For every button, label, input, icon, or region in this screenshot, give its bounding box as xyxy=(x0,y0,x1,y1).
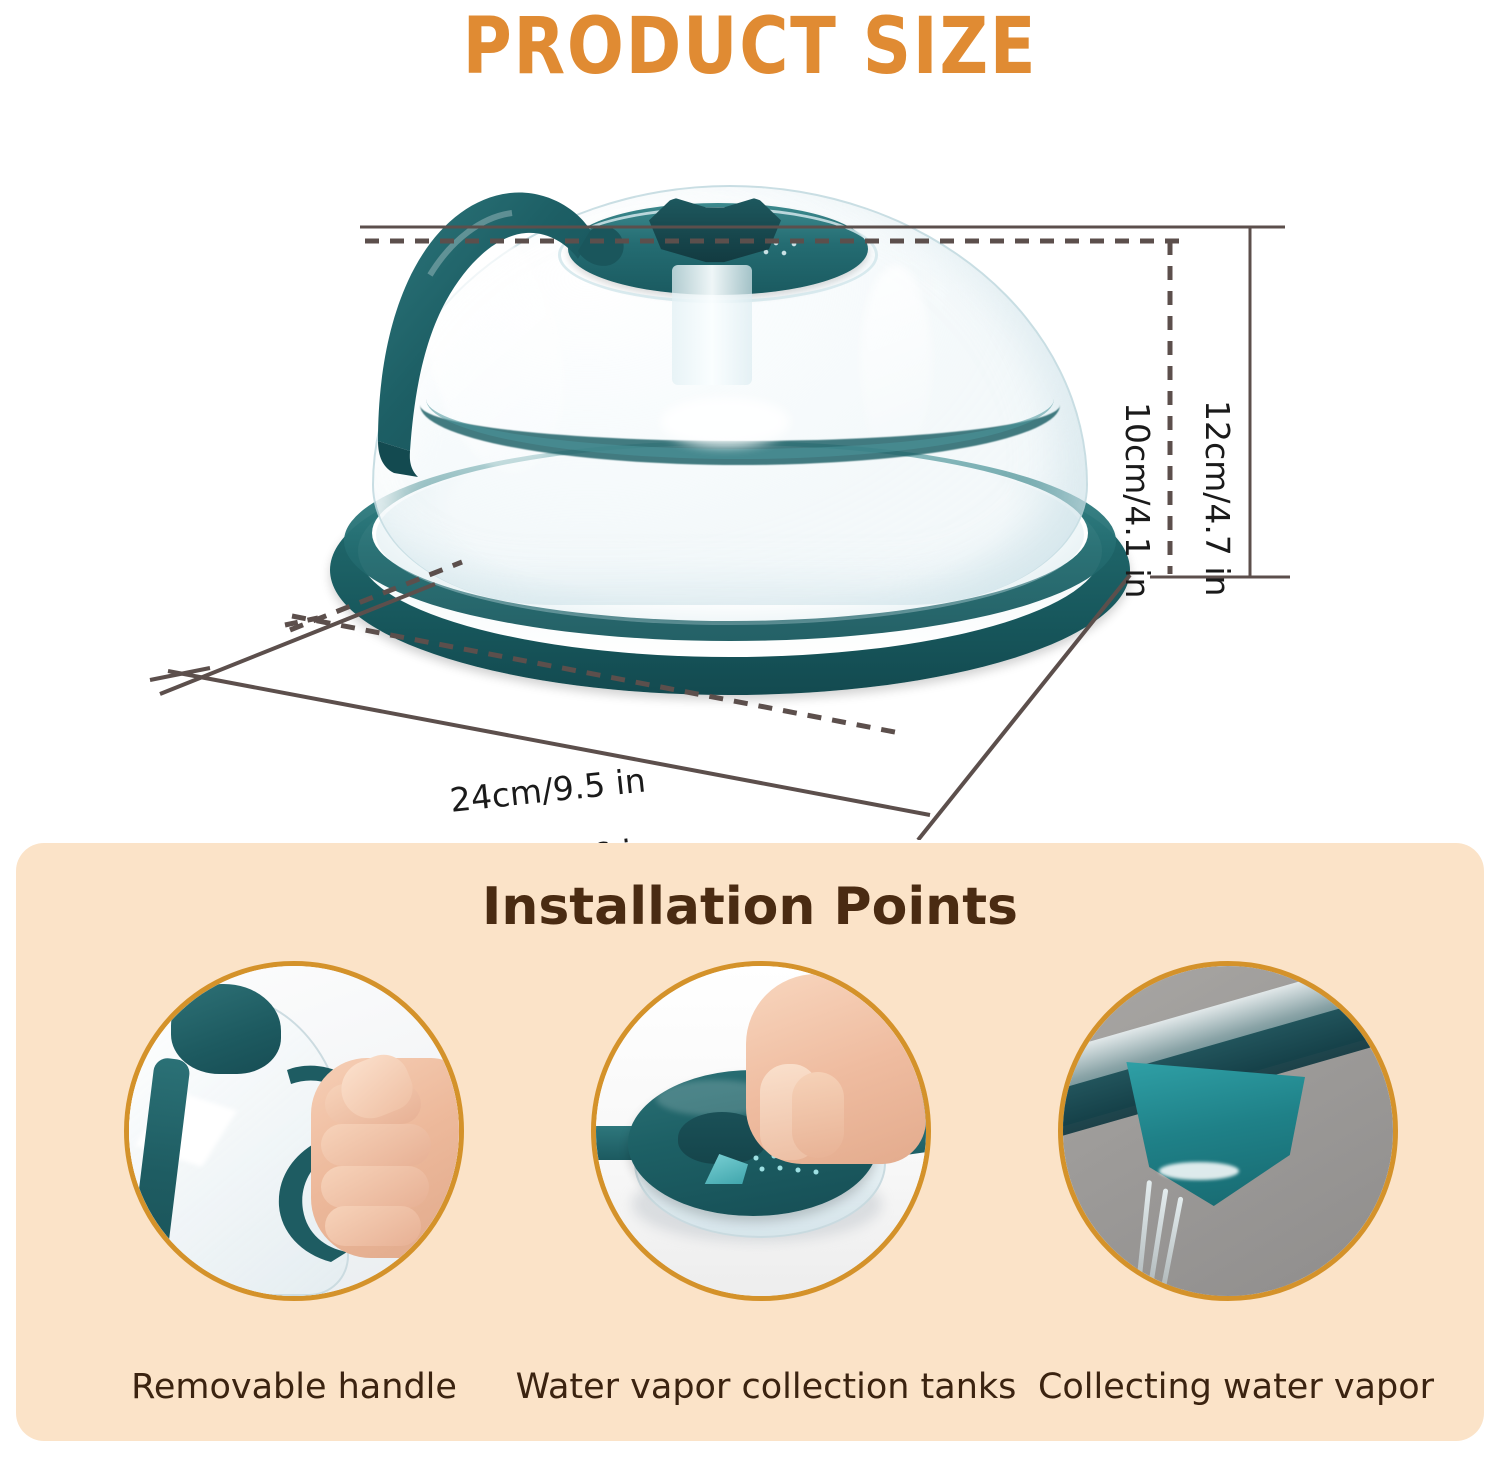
thumbnail-image-removable-handle xyxy=(129,966,459,1296)
installation-point-collecting-water-vapor[interactable] xyxy=(1058,961,1398,1301)
dimension-label-height-outer: 12cm/4.7 in xyxy=(1198,400,1237,596)
product-handle xyxy=(334,155,634,485)
finger-2 xyxy=(321,1124,431,1166)
installation-points-panel: Installation Points xyxy=(16,843,1484,1441)
thumbnail-frame-2 xyxy=(591,961,931,1301)
product-photo xyxy=(300,145,1160,745)
installation-point-water-vapor-collection-tanks[interactable] xyxy=(591,961,931,1301)
thumbnail-frame-3 xyxy=(1058,961,1398,1301)
thumbnail-frame-1 xyxy=(124,961,464,1301)
product-mid-band-gloss xyxy=(660,397,790,447)
installation-heading: Installation Points xyxy=(16,877,1484,937)
product-infographic: PRODUCT SIZE xyxy=(0,0,1500,1459)
page-title: PRODUCT SIZE xyxy=(105,2,1395,92)
thumbnail-image-collecting-water-vapor xyxy=(1063,966,1393,1296)
caption-removable-handle: Removable handle xyxy=(34,1367,554,1407)
installation-thumbnails xyxy=(16,961,1484,1361)
pinch-finger-2 xyxy=(792,1072,844,1158)
dimension-label-width-inner: 24cm/9.5 in xyxy=(448,760,647,819)
vent-knob-shape xyxy=(171,984,281,1074)
product-vent-stem xyxy=(672,265,752,385)
caption-collecting-water-vapor: Collecting water vapor xyxy=(976,1367,1496,1407)
caption-water-vapor-collection-tanks: Water vapor collection tanks xyxy=(486,1367,1046,1407)
dimension-label-height-inner: 10cm/4.1 in xyxy=(1118,402,1157,598)
finger-4 xyxy=(325,1206,421,1246)
thumbnail-image-water-vapor-collection-tanks xyxy=(596,966,926,1296)
spout-glare xyxy=(1159,1162,1239,1180)
installation-point-removable-handle[interactable] xyxy=(124,961,464,1301)
finger-3 xyxy=(321,1166,429,1208)
product-size-section: 12cm/4.7 in 10cm/4.1 in 24cm/9.5 in 29.5… xyxy=(0,100,1500,840)
